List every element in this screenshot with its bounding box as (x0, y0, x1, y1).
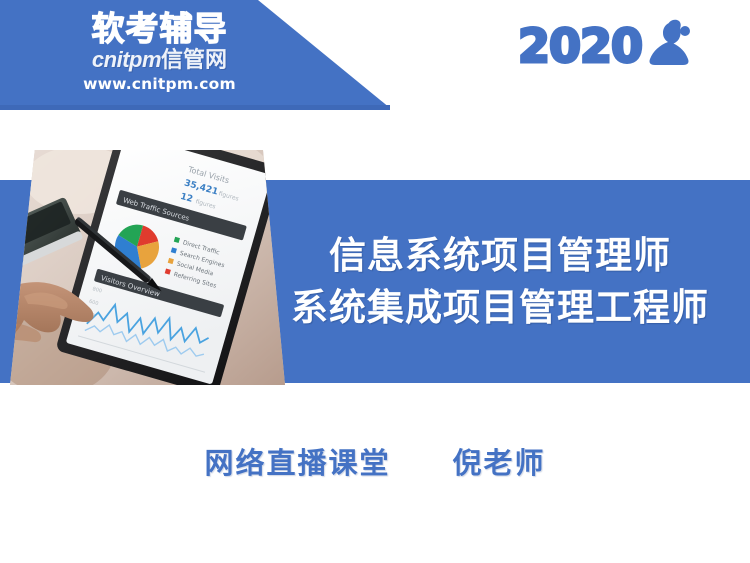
logo-url[interactable]: www.cnitpm.com (52, 75, 267, 93)
slide-header: 软考辅导 cnitpm信管网 www.cnitpm.com 2020 (0, 0, 750, 112)
slide-body: Total Visits 35,421 figures 12 figures W… (0, 180, 750, 383)
year-badge: 2020 (518, 18, 692, 73)
course-titles: 信息系统项目管理师 系统集成项目管理工程师 (250, 180, 750, 383)
rat-icon (644, 18, 692, 73)
site-logo[interactable]: 软考辅导 cnitpm信管网 www.cnitpm.com (52, 12, 267, 93)
course-title-secondary: 系统集成项目管理工程师 (291, 286, 709, 330)
logo-brand-cn: 软考辅导 (52, 12, 267, 47)
logo-brand-latin: cnitpm信管网 (52, 48, 267, 73)
footer-subtitle: 网络直播课堂 倪老师 (0, 440, 750, 482)
year-label: 2020 (518, 23, 642, 69)
logo-brand-latin-cn: 信管网 (161, 48, 227, 73)
slide-footer: 网络直播课堂 倪老师 (0, 440, 750, 482)
logo-brand-latin-text: cnitpm (92, 47, 161, 72)
tablet-analytics-photo: Total Visits 35,421 figures 12 figures W… (10, 150, 285, 385)
presentation-slide: 软考辅导 cnitpm信管网 www.cnitpm.com 2020 (0, 0, 750, 563)
course-title-primary: 信息系统项目管理师 (329, 234, 671, 278)
